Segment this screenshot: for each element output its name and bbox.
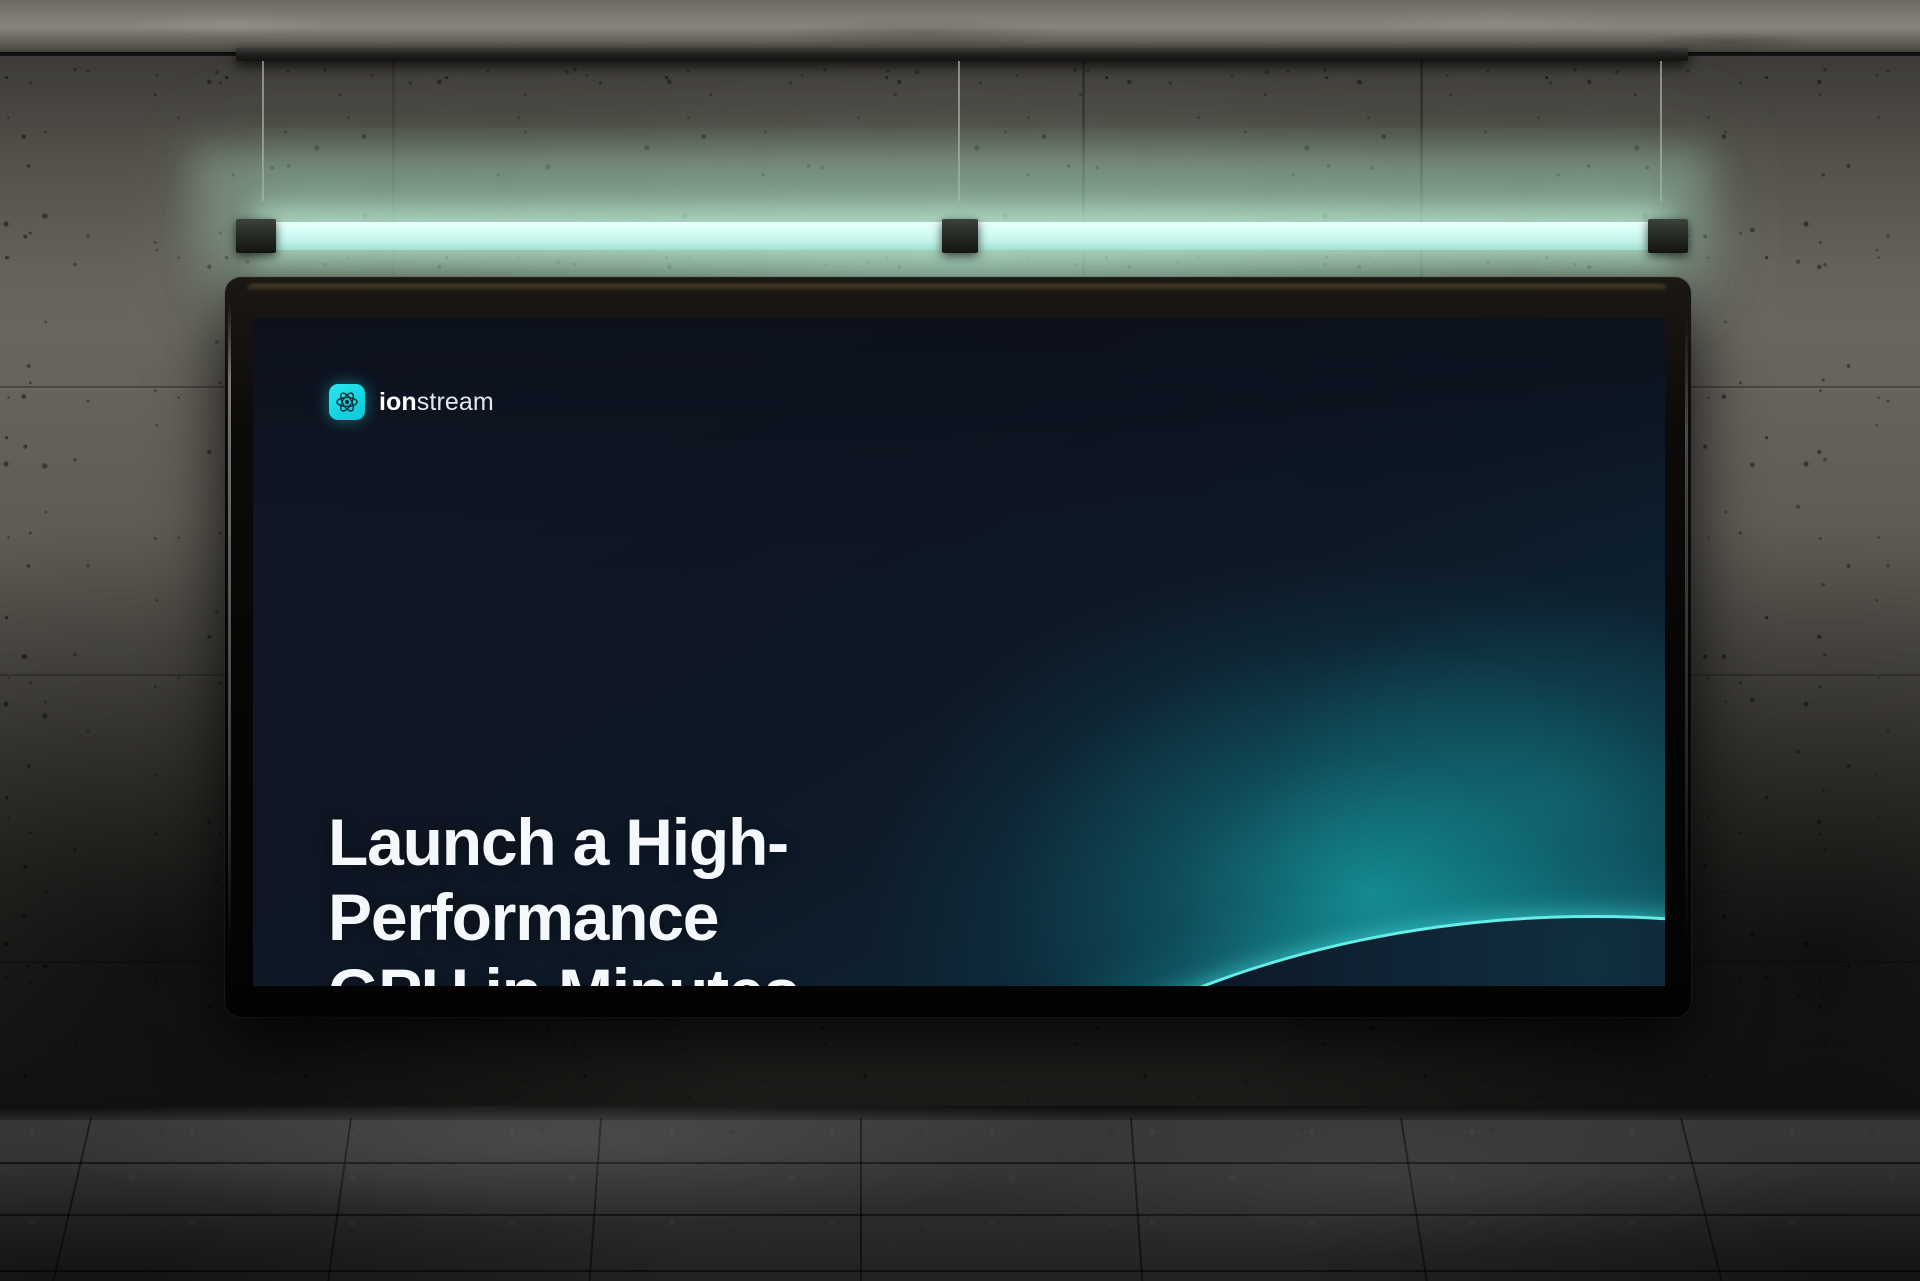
suspension-wire — [262, 61, 264, 201]
frame-top-highlight — [247, 284, 1667, 294]
light-end-cap-left — [236, 219, 276, 253]
light-end-cap-right — [1648, 219, 1688, 253]
tiled-floor — [0, 1106, 1920, 1281]
poster-content: ionstream Launch a High- Performance GPU… — [253, 318, 1665, 986]
scene-root: ionstream Launch a High- Performance GPU… — [0, 0, 1920, 1281]
poster-headline: Launch a High- Performance GPU in Minute… — [328, 805, 799, 986]
ceiling-mount-rail — [236, 48, 1688, 61]
frame-right-edge-highlight — [1685, 317, 1688, 947]
floor-lighting — [0, 1106, 1920, 1281]
fluorescent-light-fixture — [236, 219, 1688, 253]
frame-left-edge-highlight — [228, 301, 231, 951]
brand-wordmark: ionstream — [379, 390, 494, 415]
brand-name-primary: ion — [379, 388, 417, 416]
billboard-frame[interactable]: ionstream Launch a High- Performance GPU… — [225, 277, 1691, 1017]
suspension-wire — [1660, 61, 1662, 201]
light-end-cap-middle — [942, 219, 978, 253]
suspension-wire — [958, 61, 960, 201]
brand-logo[interactable]: ionstream — [329, 384, 494, 420]
billboard-poster[interactable]: ionstream Launch a High- Performance GPU… — [253, 318, 1665, 986]
brand-name-secondary: stream — [417, 388, 494, 416]
atom-icon — [329, 384, 365, 420]
